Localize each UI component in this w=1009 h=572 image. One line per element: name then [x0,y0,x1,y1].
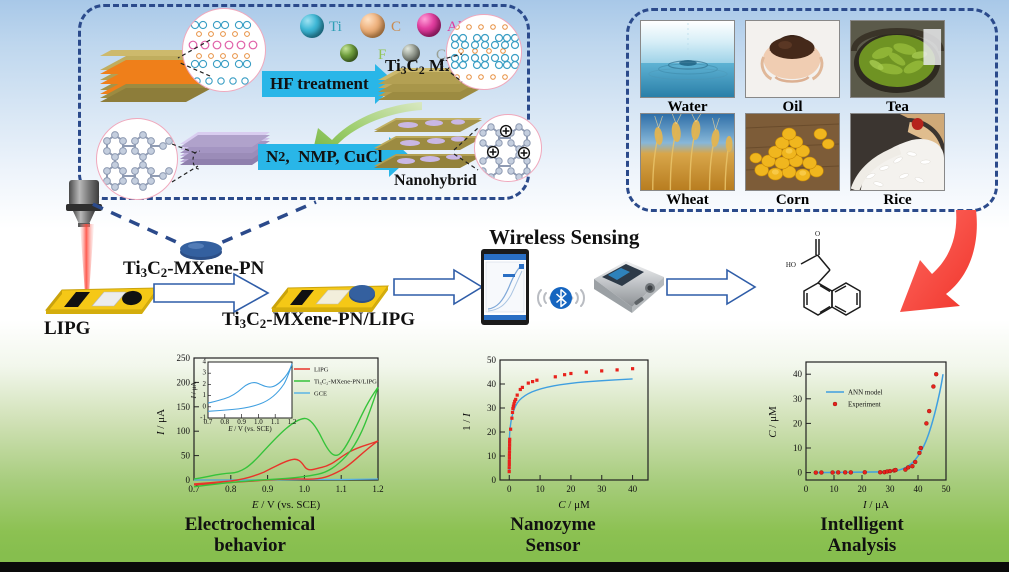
caption-mid-line1: Nanozyme [453,514,653,535]
chart1-legend: LIPG Ti₃C₂-MXene-PN/LIPG GCE [294,367,377,398]
chart2-fit-line [509,379,632,472]
svg-text:30: 30 [487,403,497,413]
svg-text:1: 1 [203,391,207,399]
chart3-legend-ann: ANN model [848,389,882,397]
nmp-cucl-label: N2, NMP, CuCl [258,144,389,170]
svg-text:-1: -1 [200,414,206,422]
water-photo [640,20,735,98]
svg-text:50: 50 [181,451,191,461]
wheat-photo [640,113,735,191]
hydroxyl-label: HO [786,261,796,269]
workflow-arrow-2 [392,268,484,306]
atom-sphere-ti [300,14,324,38]
chart1-ylabel: I / μA [155,409,167,436]
svg-text:0: 0 [507,484,512,494]
polymer-network-bubble [96,118,178,200]
chart3-xlabel: I / μA [862,499,889,511]
svg-text:10: 10 [536,484,546,494]
carbonyl-oxygen-label: O [815,230,820,238]
chart-electrochemical-behavior: 050 100150 200250 0.70.8 0.91.0 1.11.2 E… [146,348,396,516]
chart1-legend-gce: GCE [314,391,327,398]
svg-text:20: 20 [566,484,576,494]
caption-left-line2: behavior [150,535,350,556]
svg-text:30: 30 [597,484,607,494]
nanohybrid-label: Nanohybrid [394,172,477,190]
rice-photo [850,113,945,191]
caption-intelligent: Intelligent Analysis [762,514,962,557]
bluetooth-icon [533,281,589,315]
svg-text:0: 0 [203,402,207,410]
workflow-arrow-3 [665,268,757,306]
chart1-series-lipg-fwd [194,441,378,484]
sample-cell-oil: Oil [745,20,840,98]
chart-intelligent-analysis: 010 2030 40 010 2030 4050 I / μA C / μM [756,348,1006,516]
chart1-legend-mxene: Ti₃C₂-MXene-PN/LIPG [314,379,377,386]
lipg-electrode [42,280,162,322]
svg-text:0: 0 [492,475,497,485]
atom-sphere-al [417,13,441,37]
svg-text:0: 0 [804,484,809,494]
chart1-inset-ylabel: I / μA [190,382,198,400]
caption-right-line1: Intelligent [762,514,962,535]
svg-text:2: 2 [203,380,207,388]
svg-text:30: 30 [793,394,803,404]
chart3-legend-exp: Experiment [848,401,881,409]
chart2-ylabel: 1 / I [461,412,473,431]
lipg-label: LIPG [44,318,90,340]
bottom-bar [0,562,1009,572]
svg-text:0.9: 0.9 [262,484,274,494]
svg-text:40: 40 [628,484,638,494]
modified-electrode-label: Ti3C2-MXene-PN/LIPG [222,309,415,332]
svg-text:40: 40 [793,369,803,379]
svg-text:10: 10 [793,443,803,453]
svg-text:50: 50 [487,355,497,365]
svg-text:3: 3 [203,369,207,377]
atom-label-ti: Ti [329,19,342,36]
chart-nanozyme-sensor: 010 2030 4050 010 2030 40 C / μM 1 / I [452,348,702,516]
sample-cell-water: Water [640,20,735,98]
svg-text:20: 20 [858,484,868,494]
svg-text:250: 250 [177,353,191,363]
chart1-xlabel: E / V (vs. SCE) [251,499,321,511]
svg-text:200: 200 [177,377,191,387]
caption-right-line2: Analysis [762,535,962,556]
svg-text:40: 40 [914,484,924,494]
caption-nanozyme: Nanozyme Sensor [453,514,653,557]
chart3-legend: ANN model Experiment [826,389,882,409]
corn-photo [745,113,840,191]
max-leader-lines [176,36,212,82]
cation-network-bubble [474,114,542,182]
tablet-device [481,249,529,325]
potentiostat-device [588,255,668,315]
svg-text:0: 0 [798,468,803,478]
sample-label-wheat: Wheat [640,192,735,209]
caption-left-line1: Electrochemical [150,514,350,535]
chart1-inset-xlabel: E / V (vs. SCE) [227,425,272,433]
wireless-sensing-title: Wireless Sensing [489,225,639,250]
nanohybrid-leader-lines [452,124,480,172]
polymer-leader-lines [170,140,200,184]
workflow-arrow-1 [152,272,270,314]
svg-text:1.1: 1.1 [336,484,347,494]
red-feedback-arrow-icon [880,210,986,322]
mxene-leader-lines [438,52,464,86]
analyte-structure: O HO [768,225,898,335]
svg-text:10: 10 [487,451,497,461]
atom-sphere-f [340,44,358,62]
hf-treatment-label: HF treatment [262,71,375,97]
sample-label-corn: Corn [745,192,840,209]
chart1-inset: 0.70.8 0.91.0 1.11.2 -10 12 34 E / V (vs… [190,358,297,434]
sample-cell-rice: Rice [850,113,945,191]
svg-text:0.8: 0.8 [225,484,237,494]
sample-label-rice: Rice [850,192,945,209]
caption-mid-line2: Sensor [453,535,653,556]
svg-text:150: 150 [177,402,191,412]
sample-cell-wheat: Wheat [640,113,735,191]
svg-text:100: 100 [177,426,191,436]
caption-electrochemical: Electrochemical behavior [150,514,350,557]
tea-photo [850,20,945,98]
graphical-abstract: Ti C Al F Cu HF treatment Ti3C2 MXene [0,0,1009,572]
svg-text:10: 10 [830,484,840,494]
svg-text:4: 4 [203,358,207,366]
svg-text:1.2: 1.2 [288,418,297,426]
atom-label-c: C [391,19,401,36]
svg-text:1.1: 1.1 [271,418,280,426]
atom-sphere-c [360,13,385,38]
sample-cell-corn: Corn [745,113,840,191]
svg-text:20: 20 [487,427,497,437]
chart3-ylabel: C / μM [767,406,779,438]
svg-text:1.0: 1.0 [299,484,311,494]
svg-text:20: 20 [793,418,803,428]
oil-photo [745,20,840,98]
svg-text:50: 50 [942,484,952,494]
chart2-xlabel: C / μM [558,499,590,511]
chart1-legend-lipg: LIPG [314,367,329,374]
svg-text:30: 30 [886,484,896,494]
svg-text:1.2: 1.2 [372,484,383,494]
svg-text:40: 40 [487,379,497,389]
sample-cell-tea: Tea [850,20,945,98]
